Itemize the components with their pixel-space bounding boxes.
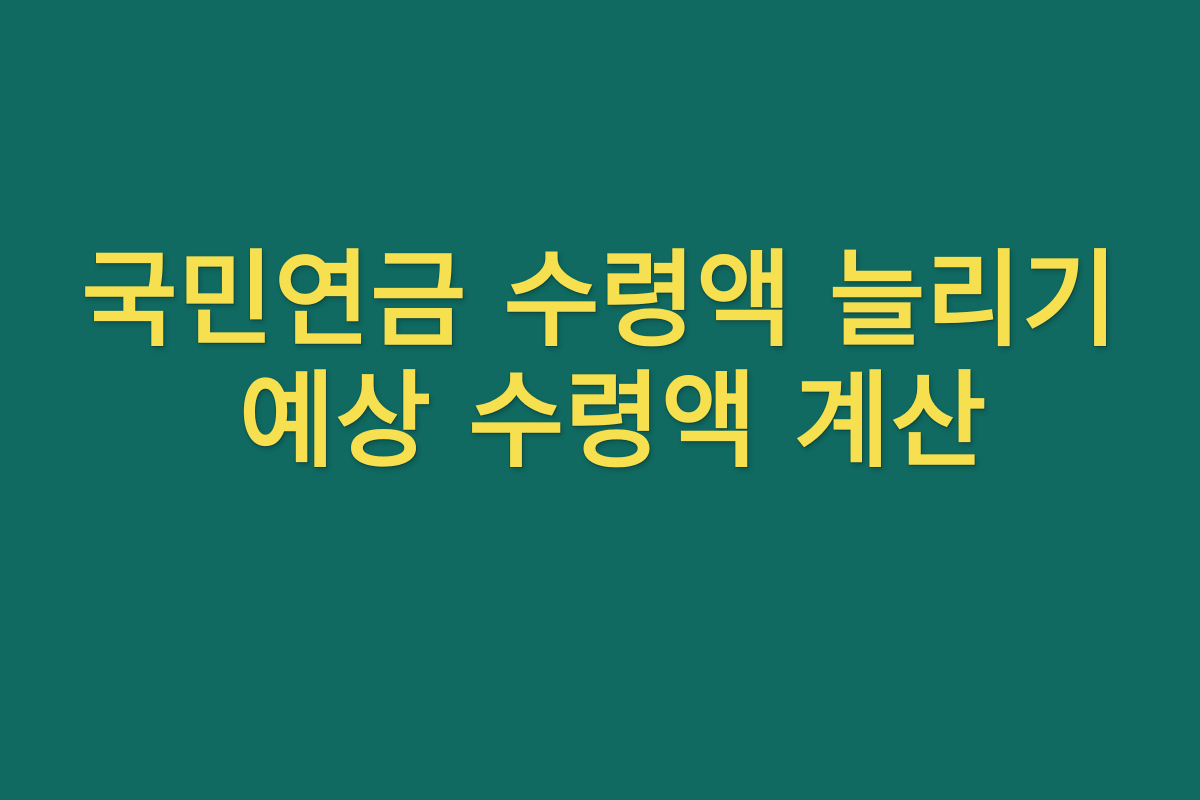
headline-block: 국민연금 수령액 늘리기 예상 수령액 계산 <box>0 240 1200 481</box>
thumbnail-banner: 국민연금 수령액 늘리기 예상 수령액 계산 <box>0 0 1200 800</box>
headline-line-2: 예상 수령액 계산 <box>0 361 1200 482</box>
headline-line-1: 국민연금 수령액 늘리기 <box>0 240 1200 361</box>
